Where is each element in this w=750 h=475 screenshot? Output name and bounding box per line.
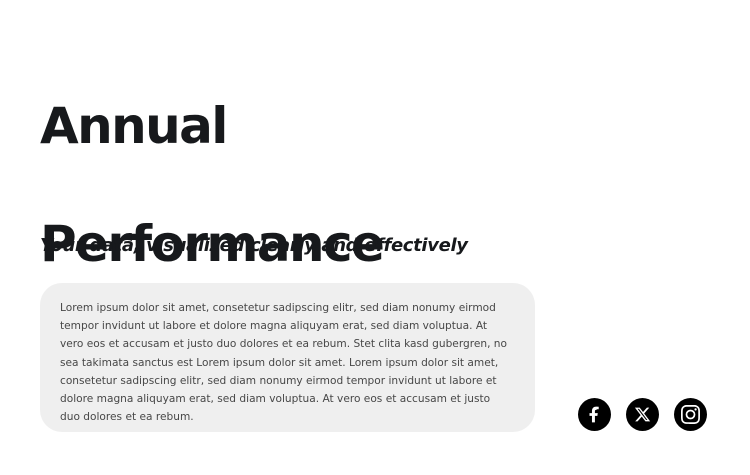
social-links	[578, 398, 707, 431]
poster-canvas: Annual Performance Report 2025 Your data…	[0, 0, 750, 475]
x-twitter-icon[interactable]	[626, 398, 659, 431]
page-subtitle: Your data, visualized clearly and effect…	[40, 235, 468, 256]
facebook-icon[interactable]	[578, 398, 611, 431]
headline-line-1: Annual	[40, 97, 600, 156]
body-text-card: Lorem ipsum dolor sit amet, consetetur s…	[40, 283, 535, 432]
instagram-icon[interactable]	[674, 398, 707, 431]
body-paragraph: Lorem ipsum dolor sit amet, consetetur s…	[60, 299, 513, 426]
